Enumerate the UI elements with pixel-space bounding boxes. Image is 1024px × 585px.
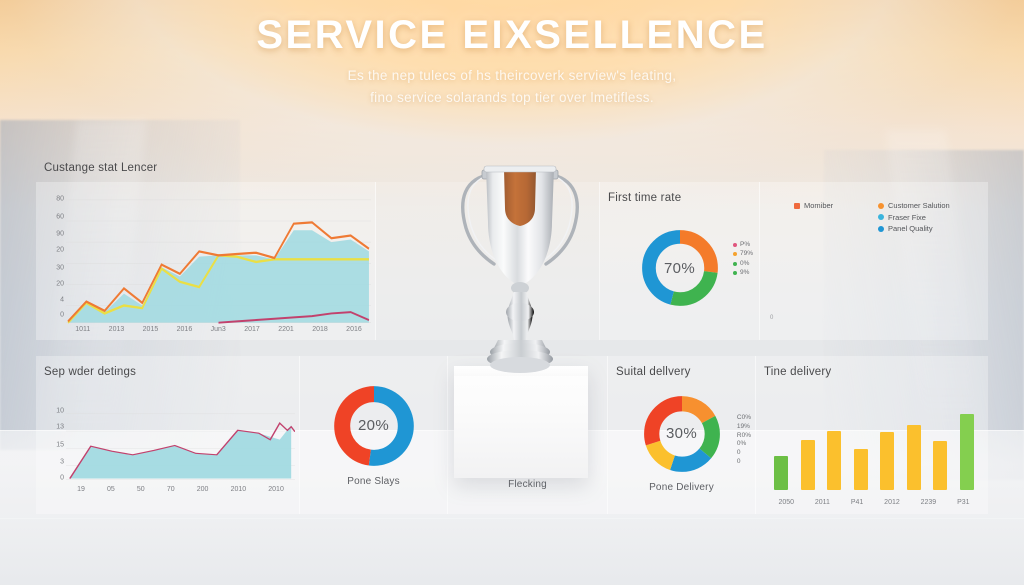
y-tick: 20 <box>56 247 64 254</box>
y-axis-labels: 10 13 15 3 0 <box>42 408 64 480</box>
x-axis-labels: 1011 2013 2015 2016 Jun3 2017 2201 2018 … <box>66 326 371 338</box>
legend-label: C0% <box>737 414 751 423</box>
x-axis-labels: 2050 2011 P41 2012 2239 P31 <box>768 499 980 506</box>
x-tick: 70 <box>167 486 175 493</box>
legend-swatch-icon <box>733 243 737 247</box>
y-tick: 80 <box>56 196 64 203</box>
legend-swatch-icon <box>733 271 737 275</box>
legend-label: 0 <box>737 449 751 458</box>
y-tick: 20 <box>56 280 64 287</box>
bar-chart-time-delivery[interactable] <box>768 400 980 490</box>
legend-item: Fraser Fixe <box>878 212 950 224</box>
bar-axis-zero: 0 <box>770 315 773 321</box>
legend-label: 19% <box>737 423 751 432</box>
donut-legend-suital-delivery: C0% 19% R0% 0% 0 0 <box>737 414 751 467</box>
legend-label: Momiber <box>804 200 833 212</box>
y-tick: 30 <box>56 264 64 271</box>
x-tick: 2016 <box>177 326 193 333</box>
legend-item: 9% <box>733 268 753 277</box>
bar[interactable] <box>933 441 947 490</box>
legend-item: 0% <box>733 259 753 268</box>
plot-area-customer-satisfaction <box>66 192 371 324</box>
legend-item: 79% <box>733 249 753 258</box>
legend-item: Momiber <box>794 200 878 212</box>
donut-label: Pone Delivery <box>649 482 714 493</box>
legend-swatch-icon <box>878 203 884 209</box>
bar[interactable] <box>801 440 815 490</box>
panel-customer-satisfaction[interactable]: Custange stat Lencer 80 60 90 20 30 20 4… <box>36 182 376 340</box>
y-tick: 0 <box>60 474 64 481</box>
panel-suital-delivery[interactable]: Suital dellvery 30% Pone Delivery C0% 19 <box>608 356 756 514</box>
trophy-image <box>440 160 600 390</box>
panel-title-customer-satisfaction: Custange stat Lencer <box>44 162 157 174</box>
legend-label: 0 <box>737 458 751 467</box>
panel-page-stays[interactable]: 20% Pone Slays <box>300 356 448 514</box>
y-tick: 0 <box>60 311 64 318</box>
legend-label: P% <box>740 240 750 249</box>
area-chart-svg <box>66 408 295 480</box>
x-tick: 2010 <box>231 486 247 493</box>
donut-chart[interactable]: 70% <box>639 227 721 309</box>
y-tick: 13 <box>56 424 64 431</box>
x-tick: 2010 <box>268 486 284 493</box>
bar[interactable] <box>854 449 868 490</box>
donut-center-value: 30% <box>642 394 722 474</box>
plot-area-service-ratings <box>66 408 295 480</box>
bar[interactable] <box>880 432 894 491</box>
trophy-stage <box>440 160 600 500</box>
x-tick: 05 <box>107 486 115 493</box>
x-axis-labels: 19 05 50 70 200 2010 2010 <box>66 486 295 498</box>
legend-item: Customer Salution <box>878 200 950 212</box>
y-tick: 90 <box>56 231 64 238</box>
x-tick: 2013 <box>109 326 125 333</box>
legend-label: 9% <box>740 268 749 277</box>
subtitle-line-2: fino service solarands top tier over lme… <box>0 87 1024 109</box>
x-tick: 19 <box>77 486 85 493</box>
x-tick: P31 <box>957 499 969 506</box>
y-tick: 10 <box>56 407 64 414</box>
bar[interactable] <box>907 425 921 490</box>
x-tick: 2239 <box>921 499 937 506</box>
chart-service-ratings[interactable]: 10 13 15 3 0 <box>36 380 299 514</box>
chart-customer-satisfaction[interactable]: 80 60 90 20 30 20 4 0 <box>36 182 375 340</box>
header: SERVICE EIXSELLENCE Es the nep tulecs of… <box>0 14 1024 110</box>
x-tick: 2050 <box>778 499 794 506</box>
x-tick: 200 <box>197 486 209 493</box>
legend-swatch-icon <box>794 203 800 209</box>
x-tick: 2012 <box>884 499 900 506</box>
legend-swatch-icon <box>733 252 737 256</box>
panel-service-ratings[interactable]: Sep wder detings 10 13 15 3 0 <box>36 356 300 514</box>
donut-chart[interactable]: 30% <box>642 394 722 474</box>
panel-title-time-delivery: Tine delivery <box>764 366 831 378</box>
y-tick: 3 <box>60 459 64 466</box>
y-axis-labels: 80 60 90 20 30 20 4 0 <box>42 192 64 316</box>
legend-label: 0% <box>737 440 751 449</box>
donut-suital-delivery[interactable]: 30% Pone Delivery <box>608 356 755 514</box>
donut-page-stays[interactable]: 20% Pone Slays <box>300 356 447 514</box>
page-subtitle: Es the nep tulecs of hs theircoverk serv… <box>0 65 1024 110</box>
x-tick: 2015 <box>143 326 159 333</box>
panel-time-delivery[interactable]: Tine delivery 2050 2011 P41 2012 2239 P3… <box>756 356 988 514</box>
legend-label: Fraser Fixe <box>888 212 926 224</box>
y-tick: 60 <box>56 213 64 220</box>
donut-legend-first-time-rate: P% 79% 0% 9% <box>733 240 753 278</box>
x-tick: 2018 <box>312 326 328 333</box>
bar[interactable] <box>774 456 788 490</box>
donut-chart[interactable]: 20% <box>332 384 416 468</box>
panel-first-time-rate-bars[interactable]: Momiber Customer Salution Fraser Fixe Pa… <box>760 182 988 340</box>
legend-swatch-icon <box>878 214 884 220</box>
legend-label: R0% <box>737 432 751 441</box>
donut-center-value: 70% <box>639 227 721 309</box>
floor-line <box>0 518 1024 519</box>
x-tick: 50 <box>137 486 145 493</box>
panel-title-service-ratings: Sep wder detings <box>44 366 136 378</box>
x-tick: 2017 <box>244 326 260 333</box>
legend-label: 0% <box>740 259 749 268</box>
y-tick: 15 <box>56 442 64 449</box>
bar-chart-first-time-rate[interactable] <box>772 228 980 320</box>
x-tick: 1011 <box>75 326 90 333</box>
legend-label: 79% <box>740 249 753 258</box>
area-chart-svg <box>66 192 371 324</box>
legend-label: Customer Salution <box>888 200 950 212</box>
x-tick: P41 <box>851 499 863 506</box>
page-title: SERVICE EIXSELLENCE <box>0 14 1024 56</box>
x-tick: 2011 <box>815 499 830 506</box>
x-tick: Jun3 <box>211 326 226 333</box>
y-tick: 4 <box>60 296 64 303</box>
x-tick: 2201 <box>278 326 294 333</box>
infographic-canvas: SERVICE EIXSELLENCE Es the nep tulecs of… <box>0 0 1024 585</box>
legend-item: P% <box>733 240 753 249</box>
x-tick: 2016 <box>346 326 362 333</box>
trophy-icon <box>440 160 600 390</box>
legend-swatch-icon <box>733 262 737 266</box>
bar[interactable] <box>960 414 974 490</box>
panel-first-time-rate[interactable]: First time rate 70% P% 79% 0% 9% <box>600 182 760 340</box>
donut-center-value: 20% <box>332 384 416 468</box>
donut-label: Pone Slays <box>347 476 400 487</box>
subtitle-line-1: Es the nep tulecs of hs theircoverk serv… <box>0 65 1024 87</box>
bar[interactable] <box>827 431 841 490</box>
